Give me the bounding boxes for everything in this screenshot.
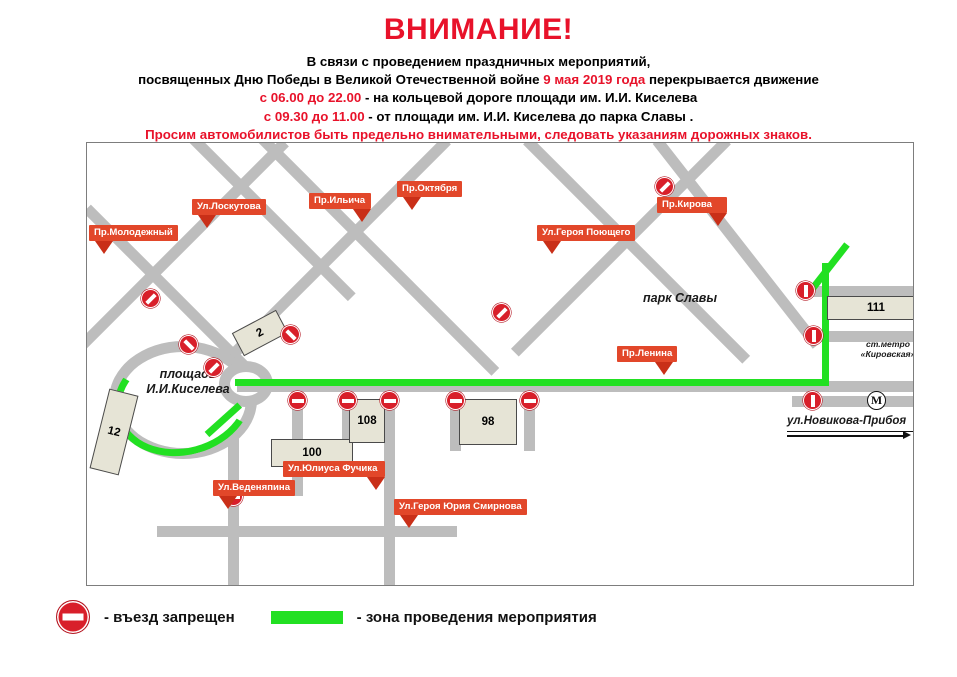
page-title: ВНИМАНИЕ!: [0, 14, 957, 46]
street-label-prospekt-lenina-text: Пр.Ленина: [617, 346, 677, 362]
direction-arrow-line: [787, 435, 905, 437]
metro-label-line2: «Кировская»: [847, 349, 914, 359]
notice-block: ВНИМАНИЕ! В связи с проведением празднич…: [0, 14, 957, 144]
pin-tip-icon: [367, 477, 385, 490]
legend-event-zone-label: - зона проведения мероприятия: [357, 609, 597, 626]
event-zone-east-vertical: [822, 263, 829, 383]
building-2: 2: [232, 310, 288, 356]
no-entry-sign-molodezhny: [141, 289, 160, 308]
building-98-number: 98: [482, 416, 495, 428]
legend-no-entry-label: - въезд запрещен: [104, 609, 235, 626]
street-label-ulica-geroya-yuriya-smirnova-text: Ул.Героя Юрия Смирнова: [394, 499, 527, 515]
street-label-prospekt-kirova: Пр.Кирова: [657, 197, 727, 226]
street-label-ulica-vedenyapina-text: Ул.Веденяпина: [213, 480, 295, 496]
road-ulica-vedenyapina: [228, 433, 239, 586]
street-label-ulica-geroya-poyuschego-text: Ул.Героя Поющего: [537, 225, 635, 241]
pin-tip-icon: [219, 496, 237, 509]
square-kiseleva-label: площадь И.И.Киселева: [133, 367, 243, 397]
notice-line-2-part-a: посвященных Дню Победы в Великой Отечест…: [138, 72, 543, 87]
building-98: 98: [459, 399, 517, 445]
metro-icon: М: [867, 391, 886, 410]
no-entry-sign-kirova-north: [655, 177, 674, 196]
road-diagonal-kirova: [653, 142, 822, 349]
street-label-ulica-vedenyapina: Ул.Веденяпина: [213, 480, 295, 509]
poster-root: ВНИМАНИЕ! В связи с проведением празднич…: [0, 0, 957, 677]
pin-tip-icon: [709, 213, 727, 226]
square-label-line1: площадь: [133, 367, 243, 382]
map-canvas: 2 12 100 108 98 111 парк Славы площадь: [87, 143, 914, 586]
pin-tip-icon: [400, 515, 418, 528]
notice-line-4: с 09.30 до 11.00 - от площади им. И.И. К…: [0, 108, 957, 126]
pin-tip-icon: [95, 241, 113, 254]
notice-date: 9 мая 2019 года: [543, 72, 645, 87]
street-label-prospekt-lenina: Пр.Ленина: [617, 346, 677, 375]
building-111: 111: [827, 296, 914, 320]
park-slavy-label: парк Славы: [643, 291, 717, 306]
square-label-line2: И.И.Киселева: [133, 382, 243, 397]
map-frame: 2 12 100 108 98 111 парк Славы площадь: [86, 142, 914, 586]
direction-arrow-head: [903, 431, 911, 439]
building-111-number: 111: [867, 302, 885, 314]
no-entry-sign-building2-east: [281, 325, 300, 344]
pin-tip-icon: [353, 209, 371, 222]
street-label-ulica-loskutova: Ул.Лоскутова: [192, 199, 266, 228]
building-12-number: 12: [106, 425, 121, 440]
street-label-ulica-yuliusa-fuchika: Ул.Юлиуса Фучика: [283, 461, 385, 490]
street-label-prospekt-molodezhny-text: Пр.Молодежный: [89, 225, 178, 241]
notice-line-2: посвященных Дню Победы в Великой Отечест…: [0, 71, 957, 89]
no-entry-sign-ring-n: [204, 358, 223, 377]
building-100-number: 100: [302, 447, 321, 459]
street-label-prospekt-molodezhny: Пр.Молодежный: [89, 225, 178, 254]
street-label-ulica-geroya-yuriya-smirnova: Ул.Героя Юрия Смирнова: [394, 499, 527, 528]
no-entry-sign-vert-108-left: [338, 391, 357, 410]
legend: - въезд запрещен - зона проведения мероп…: [56, 600, 597, 634]
pin-tip-icon: [543, 241, 561, 254]
no-entry-sign-vert-100: [288, 391, 307, 410]
street-label-ulica-geroya-poyuschego: Ул.Героя Поющего: [537, 225, 635, 254]
street-label-prospekt-ilicha: Пр.Ильича: [309, 193, 371, 222]
no-entry-sign-right-upper: [796, 281, 815, 300]
notice-line-3: с 06.00 до 22.00 - на кольцевой дороге п…: [0, 89, 957, 107]
pin-tip-icon: [198, 215, 216, 228]
notice-time-2: с 09.30 до 11.00: [264, 109, 365, 124]
road-bottom-horizontal: [157, 526, 457, 537]
street-label-prospekt-ilicha-text: Пр.Ильича: [309, 193, 371, 209]
legend-no-entry-icon: [56, 600, 90, 634]
notice-line-3-rest: - на кольцевой дороге площади им. И.И. К…: [361, 90, 697, 105]
novikova-priboya-text: ул.Новикова-Прибоя: [787, 415, 906, 427]
no-entry-sign-vert-98-left: [446, 391, 465, 410]
park-slavy-text: парк Славы: [643, 291, 717, 305]
event-zone-main-avenue: [235, 379, 795, 386]
building-2-number: 2: [254, 326, 265, 340]
no-entry-sign-fuchika: [380, 391, 399, 410]
street-label-prospekt-oktyabrya-text: Пр.Октября: [397, 181, 462, 197]
notice-line-4-rest: - от площади им. И.И. Киселева до парка …: [365, 109, 694, 124]
road-ulica-yuliusa-fuchika: [384, 386, 395, 586]
novikova-priboya-underline: [787, 431, 913, 432]
notice-line-2-part-c: перекрывается движение: [645, 72, 819, 87]
street-label-prospekt-kirova-text: Пр.Кирова: [657, 197, 727, 213]
no-entry-sign-ring-nw: [179, 335, 198, 354]
metro-label-line1: ст.метро: [847, 339, 914, 349]
metro-station-label: ст.метро «Кировская»: [847, 339, 914, 360]
no-entry-sign-vert-98-right: [520, 391, 539, 410]
novikova-priboya-label: ул.Новикова-Прибоя: [787, 415, 906, 429]
pin-tip-icon: [403, 197, 421, 210]
street-label-ulica-yuliusa-fuchika-text: Ул.Юлиуса Фучика: [283, 461, 385, 477]
metro-glyph: М: [871, 393, 882, 408]
building-108-number: 108: [357, 415, 376, 427]
street-label-ulica-loskutova-text: Ул.Лоскутова: [192, 199, 266, 215]
no-entry-sign-right-middle: [804, 326, 823, 345]
pin-tip-icon: [655, 362, 673, 375]
notice-time-1: с 06.00 до 22.00: [260, 90, 362, 105]
legend-event-zone-swatch: [271, 611, 343, 624]
no-entry-sign-oktyabrya-south: [492, 303, 511, 322]
notice-line-1: В связи с проведением праздничных меропр…: [0, 53, 957, 71]
street-label-prospekt-oktyabrya: Пр.Октября: [397, 181, 462, 210]
no-entry-sign-novikova: [803, 391, 822, 410]
